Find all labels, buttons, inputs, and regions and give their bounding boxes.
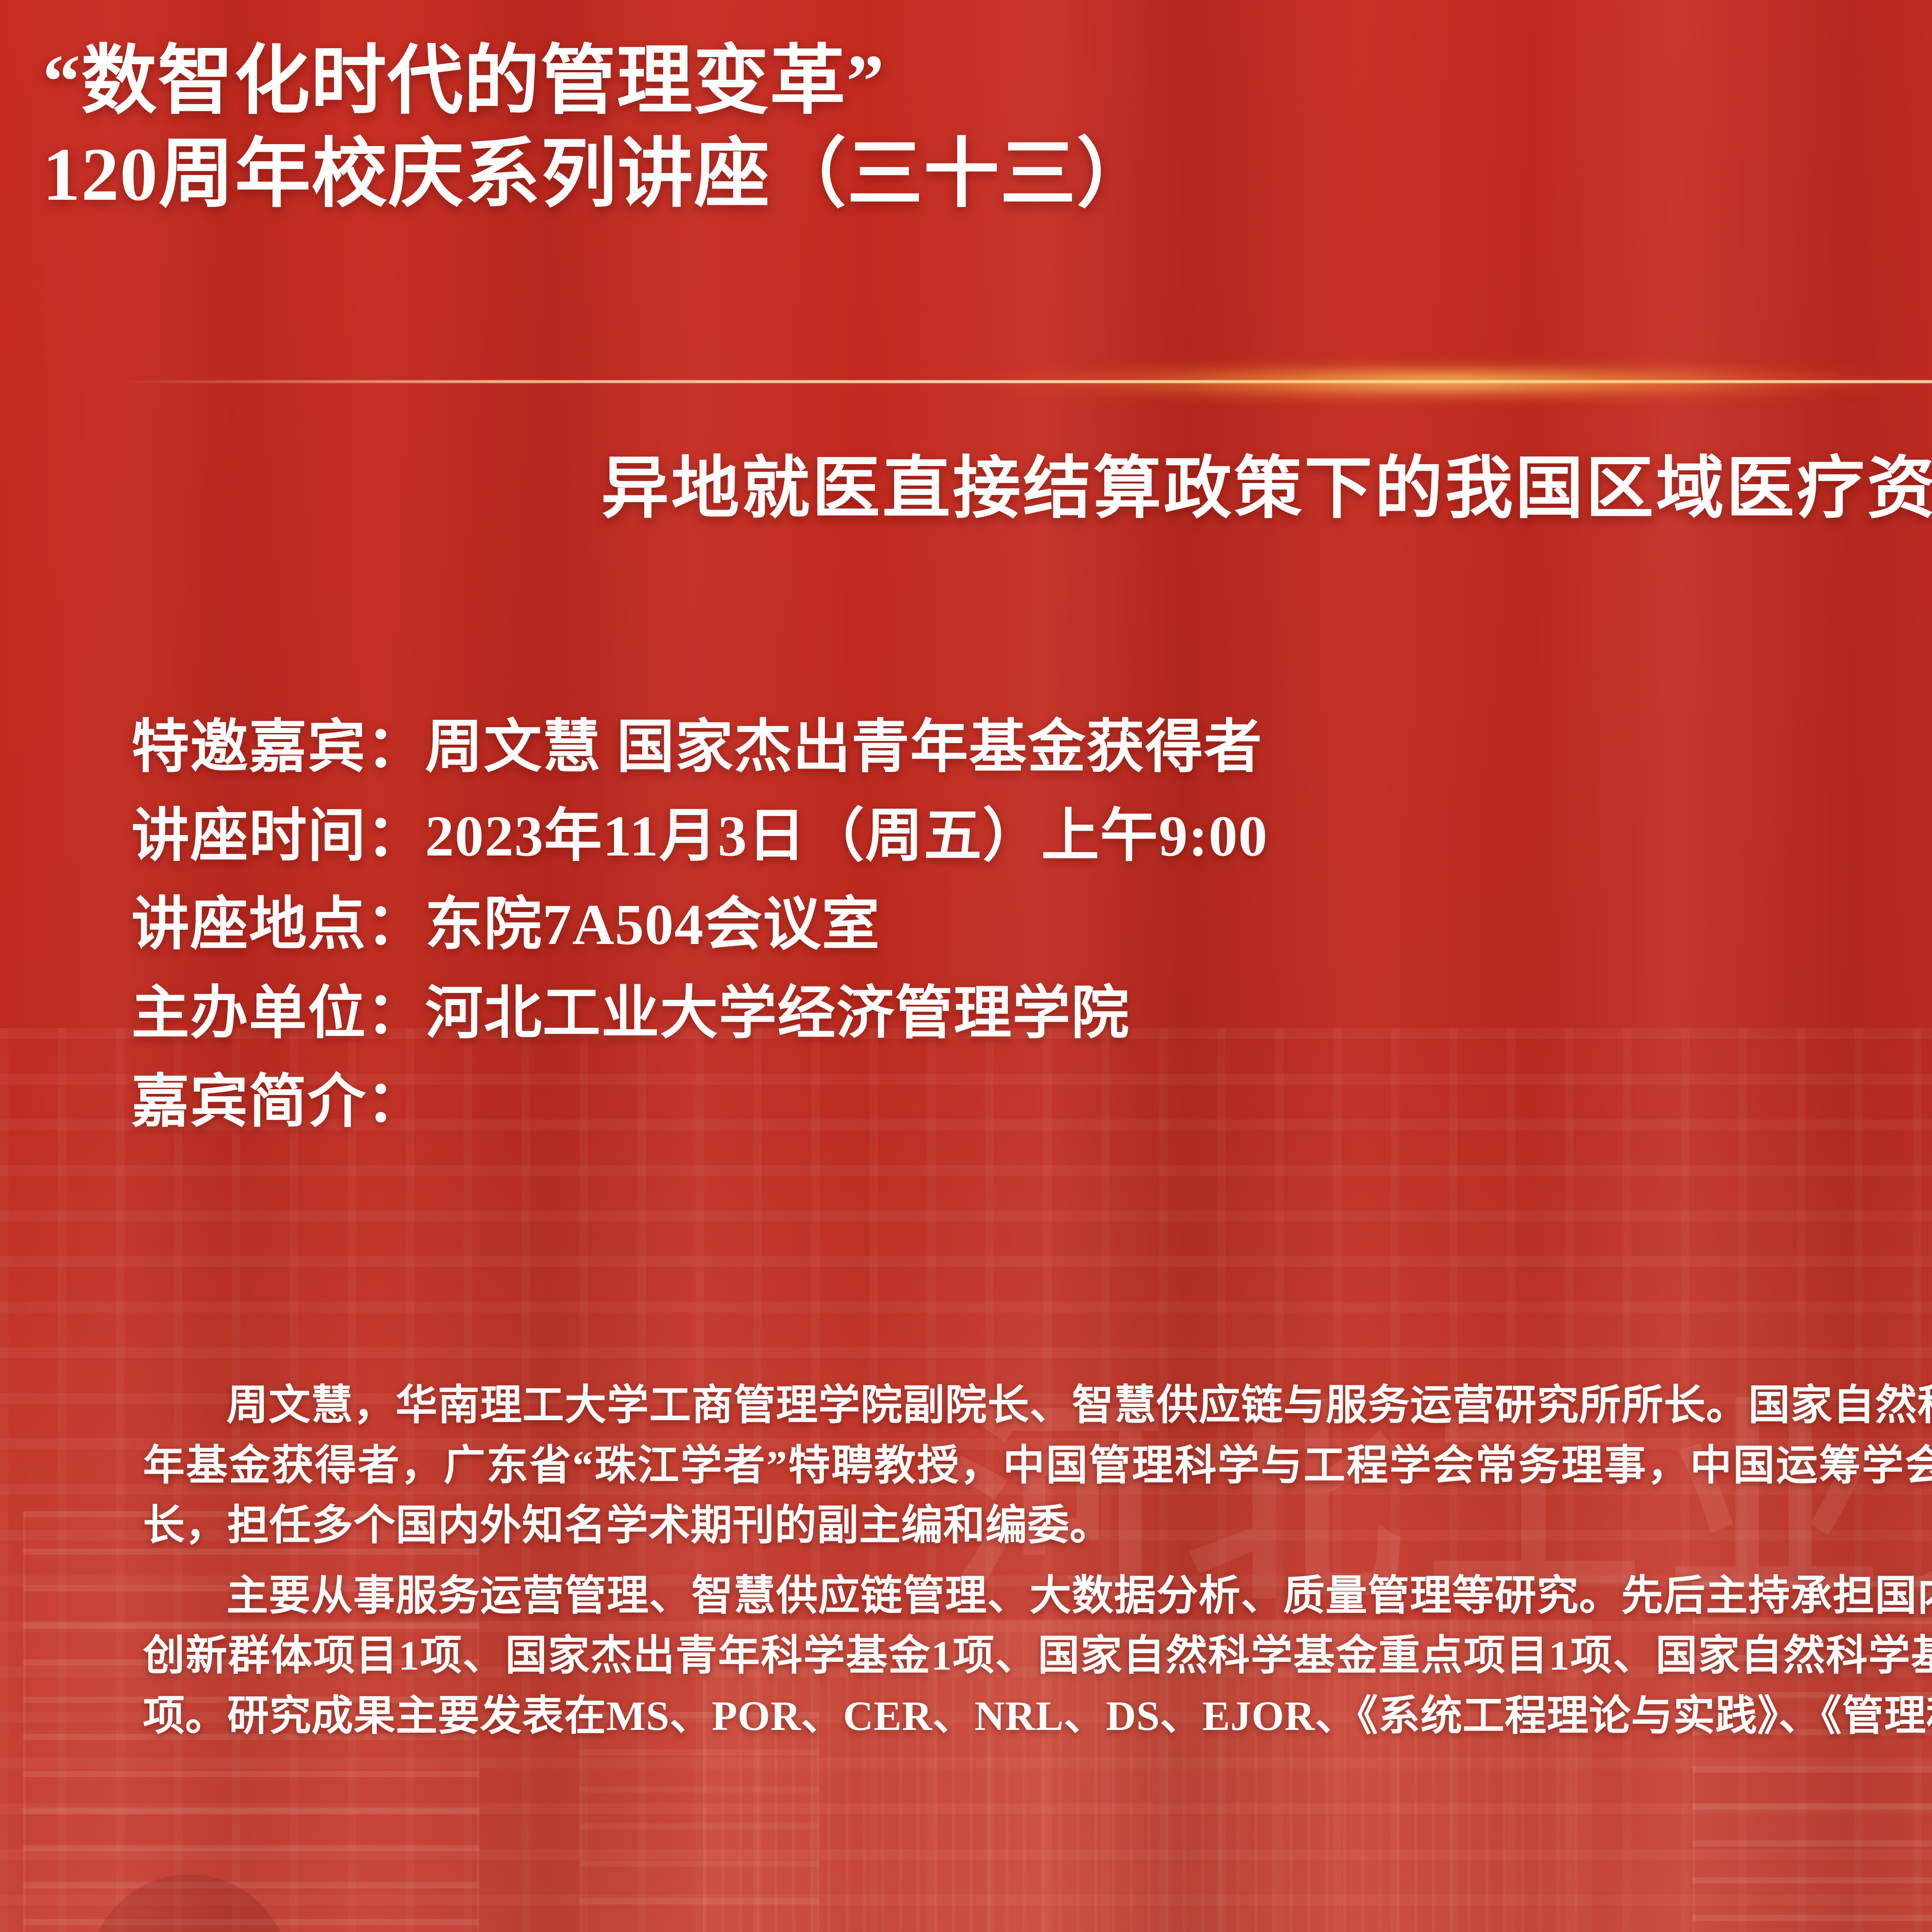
guest-biography: 周文慧，华南理工大学工商管理学院副院长、智慧供应链与服务运营研究所所长。国家自然… <box>143 1376 1932 1756</box>
info-row-bio-label: 嘉宾简介： <box>131 1058 1932 1147</box>
info-row-guest: 特邀嘉宾：周文慧 国家杰出青年基金获得者 <box>131 703 1932 792</box>
bio-paragraph-1: 周文慧，华南理工大学工商管理学院副院长、智慧供应链与服务运营研究所所长。国家自然… <box>143 1376 1932 1556</box>
lecture-info-block: 特邀嘉宾：周文慧 国家杰出青年基金获得者 讲座时间：2023年11月3日（周五）… <box>131 703 1932 1147</box>
series-title: “数智化时代的管理变革” 120周年校庆系列讲座（三十三） <box>43 35 1153 221</box>
lecture-title: 异地就医直接结算政策下的我国区域医疗资源投入研究 <box>0 448 1932 530</box>
lecture-poster: 河北工业大学 “数智化时代的管理变革” 120周年校庆系列讲座（三十三） 河北工… <box>0 0 1932 1932</box>
poster-header: “数智化时代的管理变革” 120周年校庆系列讲座（三十三） 河北工业大学 <box>0 0 1932 371</box>
bio-paragraph-2: 主要从事服务运营管理、智慧供应链管理、大数据分析、质量管理等研究。先后主持承担国… <box>143 1566 1932 1747</box>
info-row-venue: 讲座地点：东院7A504会议室 <box>131 881 1932 969</box>
info-row-host: 主办单位：河北工业大学经济管理学院 <box>131 969 1932 1058</box>
info-row-time: 讲座时间：2023年11月3日（周五）上午9:00 <box>131 792 1932 881</box>
